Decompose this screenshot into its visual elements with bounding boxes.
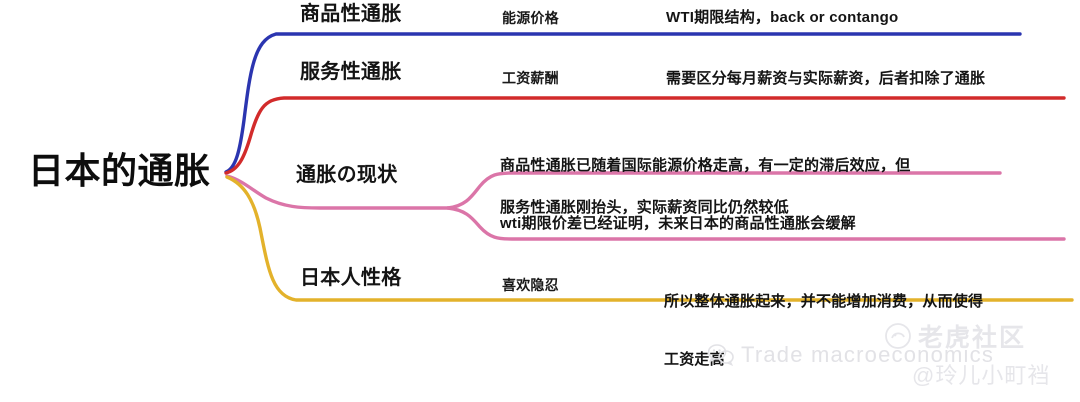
- node-wage-compensation[interactable]: 工资薪酬: [502, 70, 559, 88]
- mindmap-canvas: 日本的通胀 商品性通胀 服务性通胀 通胀の现状 日本人性格 能源价格 工资薪酬 …: [0, 0, 1080, 402]
- node-energy-price[interactable]: 能源价格: [502, 10, 559, 28]
- node-commodity-inflation-detail[interactable]: 商品性通胀已随着国际能源价格走高，有一定的滞后效应，但 wti期限价差已经证明，…: [500, 118, 910, 272]
- node-wti-term-structure[interactable]: WTI期限结构，back or contango: [666, 8, 898, 27]
- node-inflation-status[interactable]: 通胀の现状: [296, 163, 398, 189]
- node-overall-inflation-detail[interactable]: 所以整体通胀起来，并不能增加消费，从而使得 工资走高: [664, 254, 983, 402]
- node-commodity-inflation-detail-line1: 商品性通胀已随着国际能源价格走高，有一定的滞后效应，但: [500, 156, 910, 175]
- node-overall-inflation-detail-line1: 所以整体通胀起来，并不能增加消费，从而使得: [664, 292, 983, 311]
- root-node[interactable]: 日本的通胀: [28, 148, 211, 194]
- node-likes-to-endure[interactable]: 喜欢隐忍: [502, 277, 559, 295]
- node-wti-emphasis: wti: [500, 215, 521, 232]
- node-commodity-inflation[interactable]: 商品性通胀: [300, 2, 402, 28]
- node-commodity-inflation-detail-line2-rest: 期限价差已经证明，未来日本的商品性通胀会缓解: [521, 215, 855, 232]
- node-overall-inflation-detail-line2: 工资走高: [664, 350, 983, 369]
- node-japanese-character[interactable]: 日本人性格: [300, 266, 402, 292]
- node-service-inflation[interactable]: 服务性通胀: [300, 60, 402, 86]
- node-wage-distinction[interactable]: 需要区分每月薪资与实际薪资，后者扣除了通胀: [666, 69, 985, 88]
- node-service-inflation-detail[interactable]: 服务性通胀刚抬头，实际薪资同比仍然较低: [500, 198, 789, 217]
